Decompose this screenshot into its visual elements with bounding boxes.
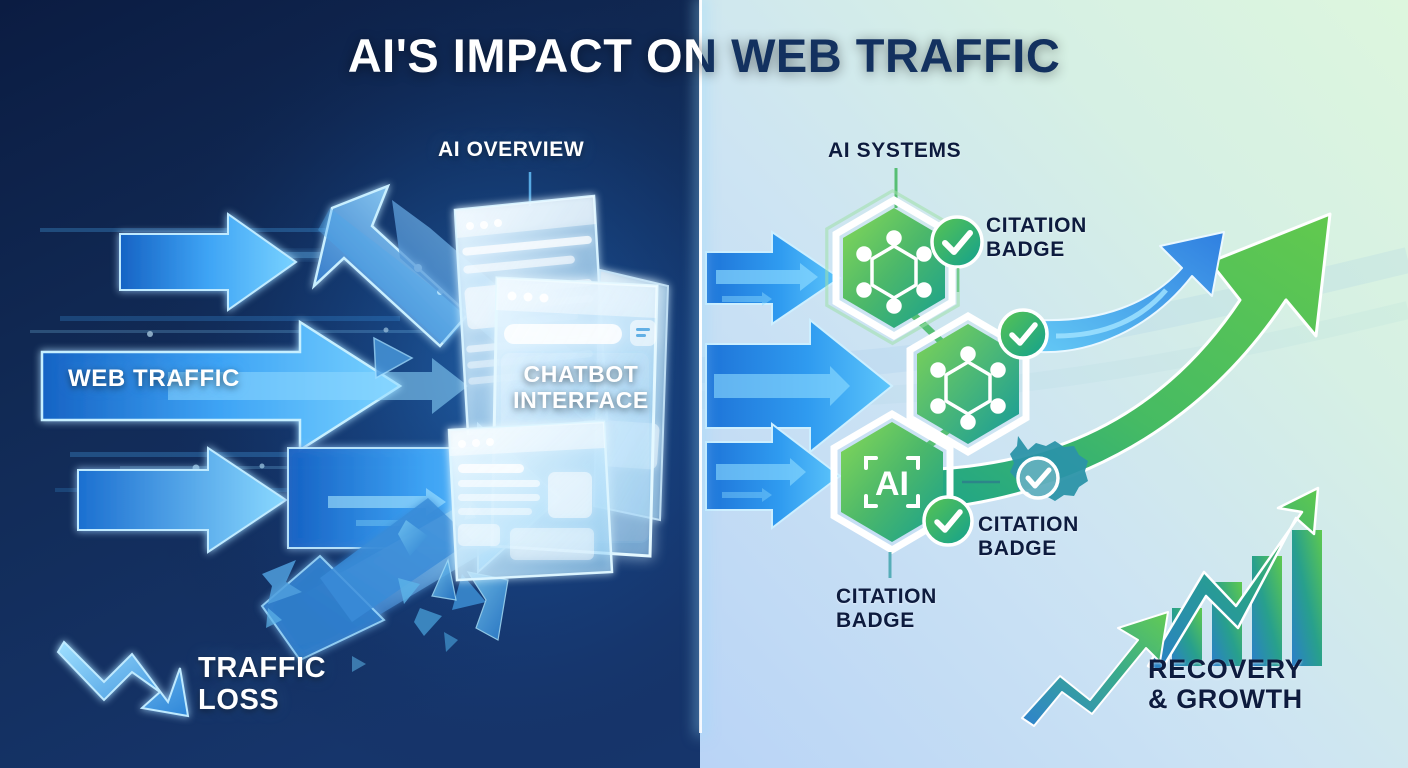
label-citation-badge-3-line-2: BADGE: [836, 609, 937, 633]
label-citation-badge-1-line-2: BADGE: [986, 238, 1087, 262]
label-web-traffic: WEB TRAFFIC: [68, 366, 240, 393]
label-citation-badge-2: CITATION BADGE: [978, 513, 1079, 560]
label-chatbot-line-1: CHATBOT: [506, 362, 656, 388]
label-chatbot-line-2: INTERFACE: [506, 388, 656, 414]
label-recovery-line-2: & GROWTH: [1148, 684, 1303, 714]
label-traffic-loss-line-2: LOSS: [198, 684, 326, 716]
label-citation-badge-3: CITATION BADGE: [836, 585, 937, 632]
label-recovery-growth: RECOVERY & GROWTH: [1148, 654, 1303, 714]
label-ai-overview: AI OVERVIEW: [438, 138, 584, 162]
label-traffic-loss: TRAFFIC LOSS: [198, 652, 326, 717]
infographic-canvas: AI: [0, 0, 1408, 768]
label-recovery-line-1: RECOVERY: [1148, 654, 1303, 684]
label-ai-systems: AI SYSTEMS: [828, 139, 961, 163]
page-title-text: AI'S IMPACT ON WEB TRAFFIC: [348, 29, 1061, 82]
label-traffic-loss-line-1: TRAFFIC: [198, 652, 326, 684]
label-citation-badge-2-line-2: BADGE: [978, 537, 1079, 561]
page-title: AI'S IMPACT ON WEB TRAFFIC: [0, 28, 1408, 83]
label-citation-badge-2-line-1: CITATION: [978, 513, 1079, 537]
text-layer: AI'S IMPACT ON WEB TRAFFIC AI OVERVIEW W…: [0, 0, 1408, 768]
label-citation-badge-1-line-1: CITATION: [986, 214, 1087, 238]
label-citation-badge-3-line-1: CITATION: [836, 585, 937, 609]
label-citation-badge-1: CITATION BADGE: [986, 214, 1087, 261]
label-chatbot-interface: CHATBOT INTERFACE: [506, 362, 656, 414]
